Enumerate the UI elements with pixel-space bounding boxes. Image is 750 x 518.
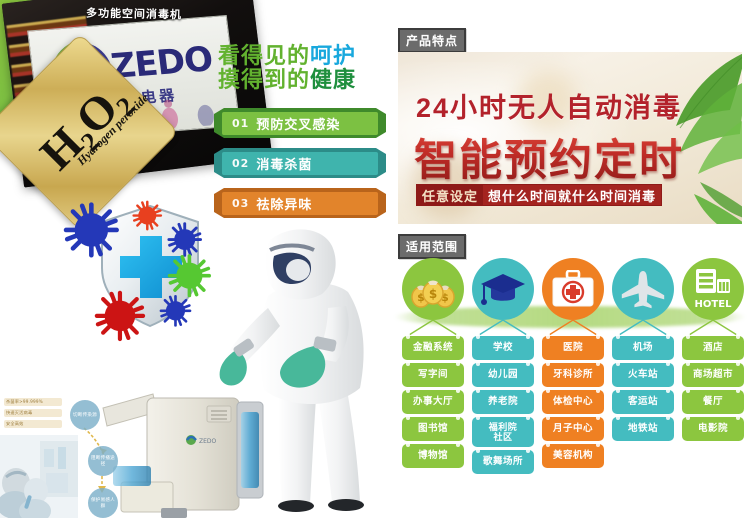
scope-circle: HOTEL	[682, 258, 744, 320]
scope-chip-label: 商场超市	[693, 370, 733, 381]
poster-canvas: 全视 的呵护 ZEDO 电器 多功能空间消毒机 H2O	[0, 0, 750, 518]
feature-bar-text: 祛除异味	[256, 194, 312, 213]
scope-chip-label: 办事大厅	[413, 397, 453, 408]
scope-chip-list: 学校幼儿园养老院福利院社区歌舞场所	[472, 336, 534, 474]
graduation-cap-icon	[480, 270, 526, 308]
headline-line2-accent: 健康	[310, 67, 356, 92]
scope-chip[interactable]: 写字间	[402, 363, 464, 387]
scope-chip-label: 月子中心	[553, 424, 593, 435]
scope-chip-label: 养老院	[488, 397, 518, 408]
scope-column: 医院牙科诊所体检中心月子中心美容机构	[542, 258, 604, 471]
banner-subtitle-text: 想什么时间就什么时间消毒	[483, 185, 661, 205]
scope-chip[interactable]: 电影院	[682, 417, 744, 441]
store-banner-text: 多功能空间消毒机	[86, 5, 246, 24]
feature-bar: 01预防交叉感染	[214, 108, 386, 138]
feature-bar-text: 消毒杀菌	[256, 154, 312, 173]
disinfection-machine-photo: ZEDO	[95, 378, 270, 518]
scope-chip-label: 餐厅	[703, 397, 723, 408]
section-scope-of-use: 适用范围	[398, 234, 466, 259]
scope-chip-label: 医院	[563, 343, 583, 354]
feature-bar-list: 01预防交叉感染02消毒杀菌03祛除异味	[214, 108, 386, 228]
scope-badge: 适用范围	[398, 234, 466, 259]
scope-chip-label: 金融系统	[413, 343, 453, 354]
scope-connector-legs	[612, 320, 674, 336]
scope-chip[interactable]: 机场	[612, 336, 674, 360]
money-bags-icon: $ $ $	[411, 269, 455, 309]
scope-chip[interactable]: 火车站	[612, 363, 674, 387]
banner-subtitle-tag: 任意设定	[417, 185, 483, 205]
feature-bar: 02消毒杀菌	[214, 148, 386, 178]
scope-circle	[542, 258, 604, 320]
scope-chip-list: 机场火车站客运站地铁站	[612, 336, 674, 441]
scope-connector-legs	[542, 320, 604, 336]
scope-chip-label: 牙科诊所	[553, 370, 593, 381]
headline-line1-accent: 呵护	[310, 43, 356, 68]
scope-chip[interactable]: 牙科诊所	[542, 363, 604, 387]
banner-line-1: 24小时无人自动消毒	[416, 86, 682, 125]
scope-chip[interactable]: 体检中心	[542, 390, 604, 414]
scope-column: HOTEL 酒店商场超市餐厅电影院	[682, 258, 744, 444]
scope-circle	[472, 258, 534, 320]
svg-text:HOTEL: HOTEL	[695, 299, 733, 310]
feature-bar-face: 02消毒杀菌	[222, 152, 378, 175]
scope-chip-label: 歌舞场所	[483, 457, 523, 468]
scope-chip[interactable]: 医院	[542, 336, 604, 360]
scope-chip-label: 地铁站	[628, 424, 658, 435]
banner-subtitle: 任意设定 想什么时间就什么时间消毒	[416, 184, 662, 206]
right-panel: 产品特点 24小时无人自动消毒 智能预约定时	[390, 0, 750, 518]
scope-chip[interactable]: 客运站	[612, 390, 674, 414]
scope-chip-label: 幼儿园	[488, 370, 518, 381]
scope-chip-list: 金融系统写字间办事大厅图书馆博物馆	[402, 336, 464, 468]
first-aid-kit-icon	[551, 270, 595, 308]
feature-bar-face: 03祛除异味	[222, 192, 378, 215]
shield-virus-illustration	[58, 192, 238, 342]
scope-chip-label: 客运站	[628, 397, 658, 408]
scope-connector-legs	[682, 320, 744, 336]
headline-line2-plain: 摸得到的	[218, 67, 310, 92]
scope-chip[interactable]: 福利院社区	[472, 417, 534, 447]
claim-item: 杀菌率>99.999%	[4, 398, 62, 406]
feature-bar-number: 02	[232, 157, 249, 170]
section-product-features: 产品特点	[398, 28, 466, 53]
claims-list: 杀菌率>99.999%快速灭活病毒安全高效	[4, 398, 62, 431]
left-panel: 全视 的呵护 ZEDO 电器 多功能空间消毒机 H2O	[0, 0, 390, 518]
scope-chip-label: 写字间	[418, 370, 448, 381]
feature-bar-text: 预防交叉感染	[256, 114, 340, 133]
airplane-icon	[619, 269, 667, 309]
svg-text:$: $	[429, 287, 437, 301]
feature-bar: 03祛除异味	[214, 188, 386, 218]
scope-chip[interactable]: 地铁站	[612, 417, 674, 441]
scope-chip[interactable]: 办事大厅	[402, 390, 464, 414]
scope-circle: $ $ $	[402, 258, 464, 320]
claim-item: 快速灭活病毒	[4, 409, 62, 417]
product-features-badge: 产品特点	[398, 28, 466, 53]
scope-chip[interactable]: 金融系统	[402, 336, 464, 360]
scope-chip-label: 学校	[493, 343, 513, 354]
scope-chip-list: 医院牙科诊所体检中心月子中心美容机构	[542, 336, 604, 468]
scope-chip-label: 酒店	[703, 343, 723, 354]
feature-bar-face: 01预防交叉感染	[222, 112, 378, 135]
scope-column: $ $ $ 金融系统写字间办事大厅图书馆博物馆	[402, 258, 464, 471]
prevention-flow-bubbles: 切断传染源 阻断传播途径 保护易感人群	[62, 398, 120, 518]
scope-chip[interactable]: 养老院	[472, 390, 534, 414]
scope-chip-label: 福利院社区	[489, 422, 518, 442]
scope-chip-label: 体检中心	[553, 397, 593, 408]
scope-chip-label: 火车站	[628, 370, 658, 381]
hotel-icon: HOTEL	[690, 267, 736, 311]
scope-chip[interactable]: 月子中心	[542, 417, 604, 441]
feature-bar-number: 01	[232, 117, 249, 130]
scope-chip[interactable]: 餐厅	[682, 390, 744, 414]
bubble-protect-susceptible: 保护易感人群	[88, 488, 118, 518]
scope-circle	[612, 258, 674, 320]
scope-chip[interactable]: 幼儿园	[472, 363, 534, 387]
bubble-cut-infection-source: 切断传染源	[70, 400, 100, 430]
scope-chip-label: 博物馆	[418, 451, 448, 462]
scope-column: 学校幼儿园养老院福利院社区歌舞场所	[472, 258, 534, 477]
scope-chip[interactable]: 歌舞场所	[472, 450, 534, 474]
scope-chip[interactable]: 博物馆	[402, 444, 464, 468]
scope-chip[interactable]: 图书馆	[402, 417, 464, 441]
claim-item: 安全高效	[4, 420, 62, 428]
scope-chip[interactable]: 学校	[472, 336, 534, 360]
scope-chip[interactable]: 酒店	[682, 336, 744, 360]
scope-connector-legs	[402, 320, 464, 336]
scope-connector-legs	[472, 320, 534, 336]
scope-chip-label: 图书馆	[418, 424, 448, 435]
scope-chip-label: 电影院	[698, 424, 728, 435]
scope-column: 机场火车站客运站地铁站	[612, 258, 674, 444]
scope-chip-label: 机场	[633, 343, 653, 354]
scope-grid: $ $ $ 金融系统写字间办事大厅图书馆博物馆 学校幼儿园养老院福利院社区歌舞场…	[394, 258, 746, 508]
banner-line-2: 智能预约定时	[414, 126, 684, 188]
scope-chip[interactable]: 美容机构	[542, 444, 604, 468]
product-feature-banner: 24小时无人自动消毒 智能预约定时 任意设定 想什么时间就什么时间消毒	[398, 52, 742, 224]
scope-chip[interactable]: 商场超市	[682, 363, 744, 387]
left-headline: 看得见的呵护 摸得到的健康	[218, 44, 388, 92]
scope-chip-list: 酒店商场超市餐厅电影院	[682, 336, 744, 441]
bubble-block-transmission: 阻断传播途径	[88, 446, 118, 476]
scope-chip-label: 美容机构	[553, 451, 593, 462]
svg-text:ZEDO: ZEDO	[199, 438, 217, 445]
headline-line1-plain: 看得见的	[218, 43, 310, 68]
